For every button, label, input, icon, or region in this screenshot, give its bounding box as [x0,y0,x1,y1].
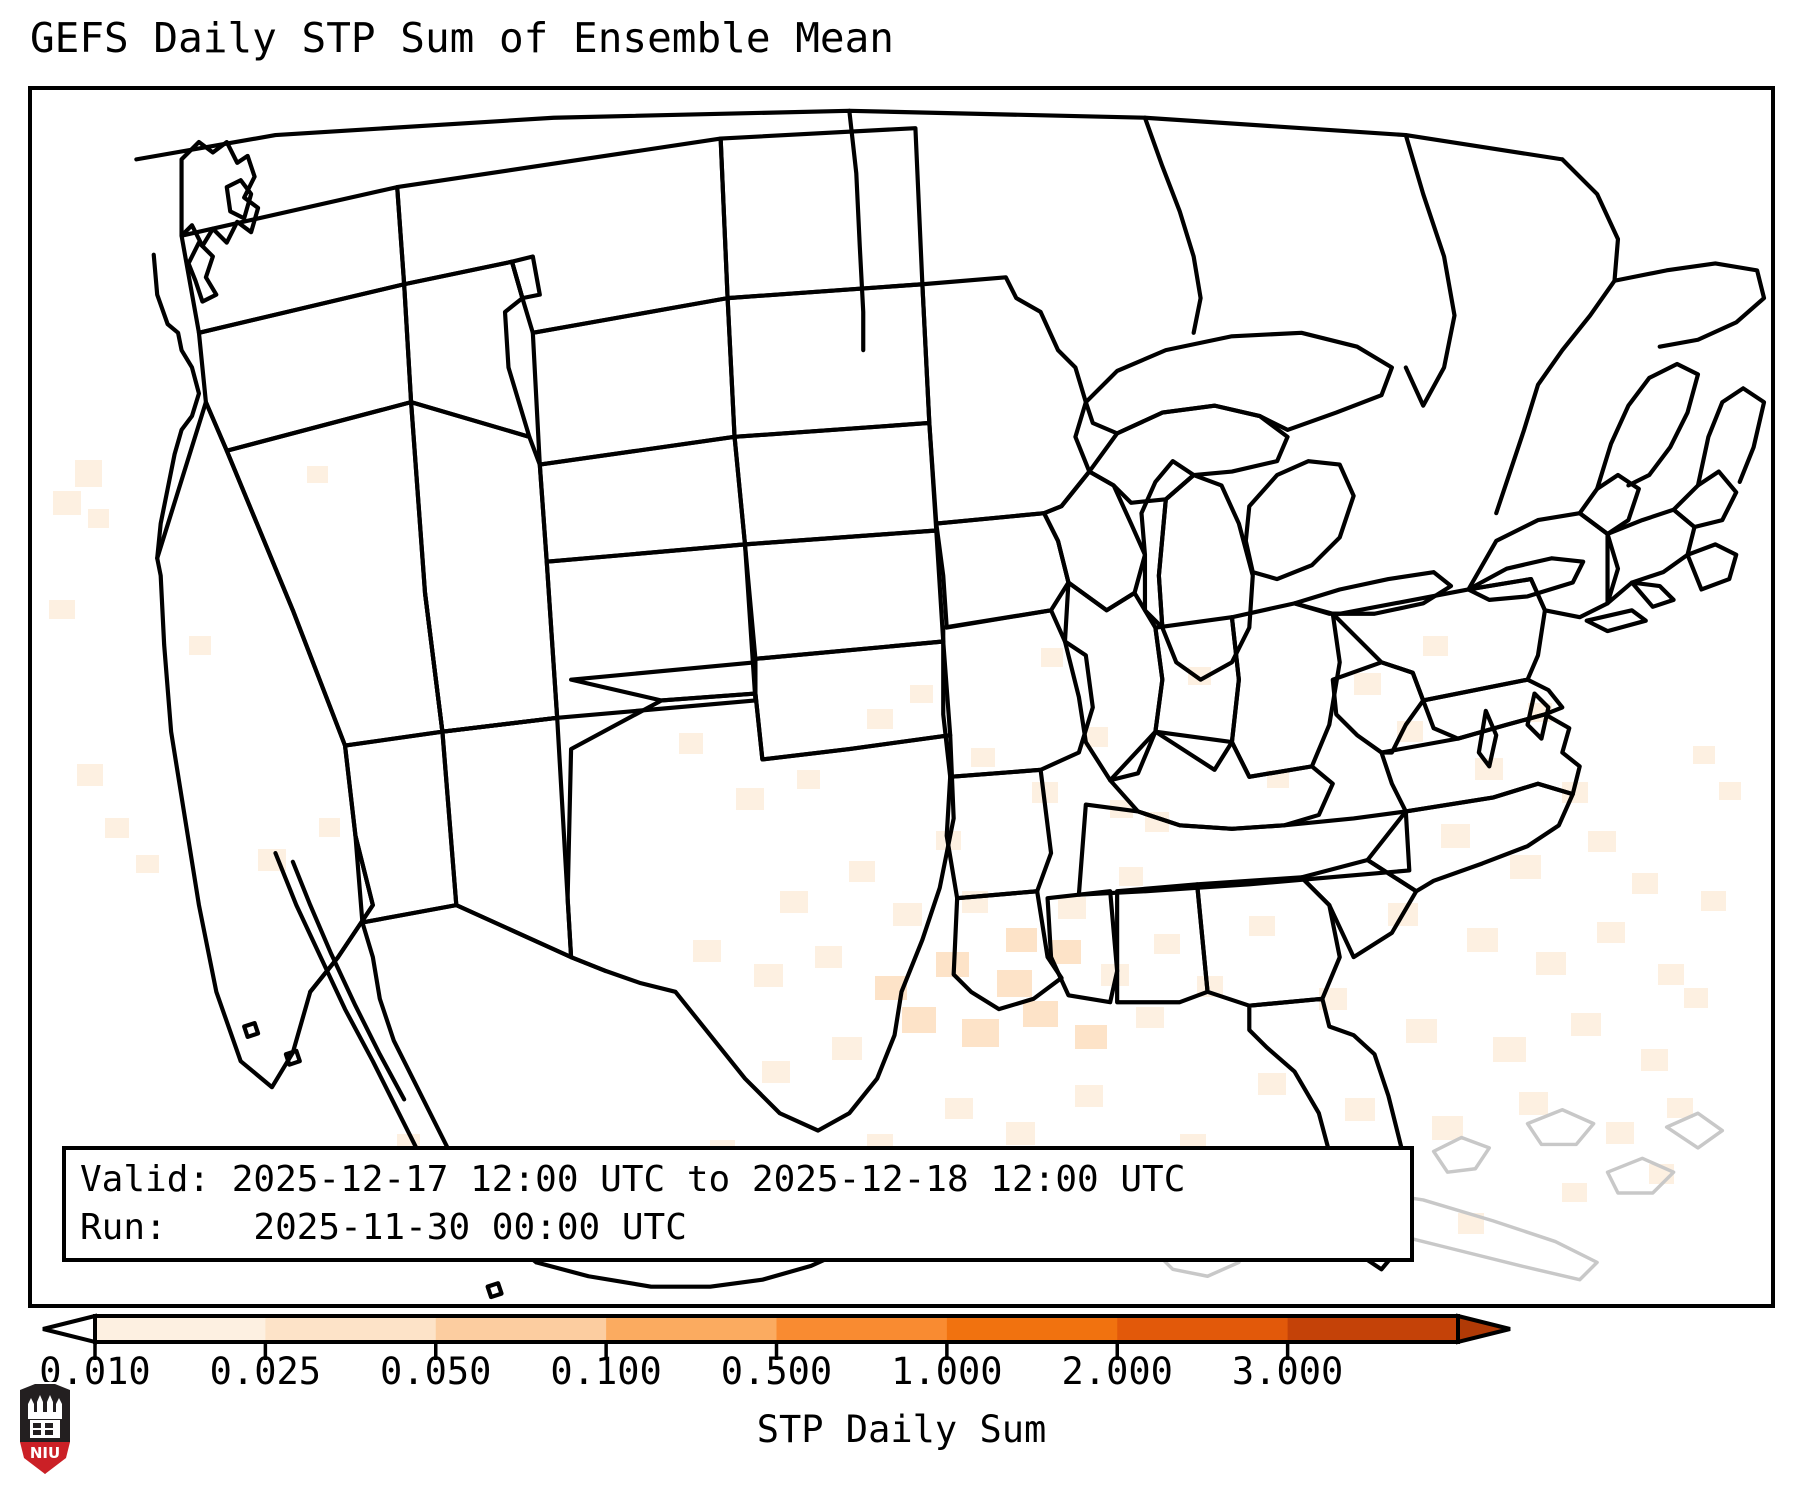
colorbar-tick-label: 0.100 [550,1350,661,1393]
colorbar-band [95,1316,266,1342]
colorbar-band [436,1316,607,1342]
colorbar-tick-label: 0.500 [721,1350,832,1393]
colorbar-tick-label: 0.050 [380,1350,491,1393]
colorbar-under-arrow [43,1316,95,1342]
colorbar-band [265,1316,436,1342]
colorbar-axis-label: STP Daily Sum [0,1408,1803,1451]
colorbar-tick-label: 0.025 [210,1350,321,1393]
niu-logo: NIU [14,1382,76,1482]
colorbar-band [1288,1316,1459,1342]
valid-time-text: Valid: 2025-12-17 12:00 UTC to 2025-12-1… [80,1156,1396,1204]
info-box: Valid: 2025-12-17 12:00 UTC to 2025-12-1… [62,1146,1414,1262]
colorbar-band [1117,1316,1288,1342]
colorbar-band [777,1316,948,1342]
colorbar-tick-label: 3.000 [1232,1350,1343,1393]
page-title: GEFS Daily STP Sum of Ensemble Mean [30,14,894,62]
map-geography-outlines [32,90,1771,1304]
map-plot-area [28,86,1775,1308]
colorbar-band [947,1316,1118,1342]
colorbar-tick-label: 1.000 [891,1350,1002,1393]
colorbar-over-arrow [1458,1316,1510,1342]
colorbar-tick-label: 2.000 [1062,1350,1173,1393]
run-time-text: Run: 2025-11-30 00:00 UTC [80,1204,1396,1252]
colorbar-band [606,1316,777,1342]
niu-logo-text: NIU [30,1444,60,1462]
colorbar-tick-labels: 0.0100.0250.0500.1000.5001.0002.0003.000 [0,1350,1803,1400]
